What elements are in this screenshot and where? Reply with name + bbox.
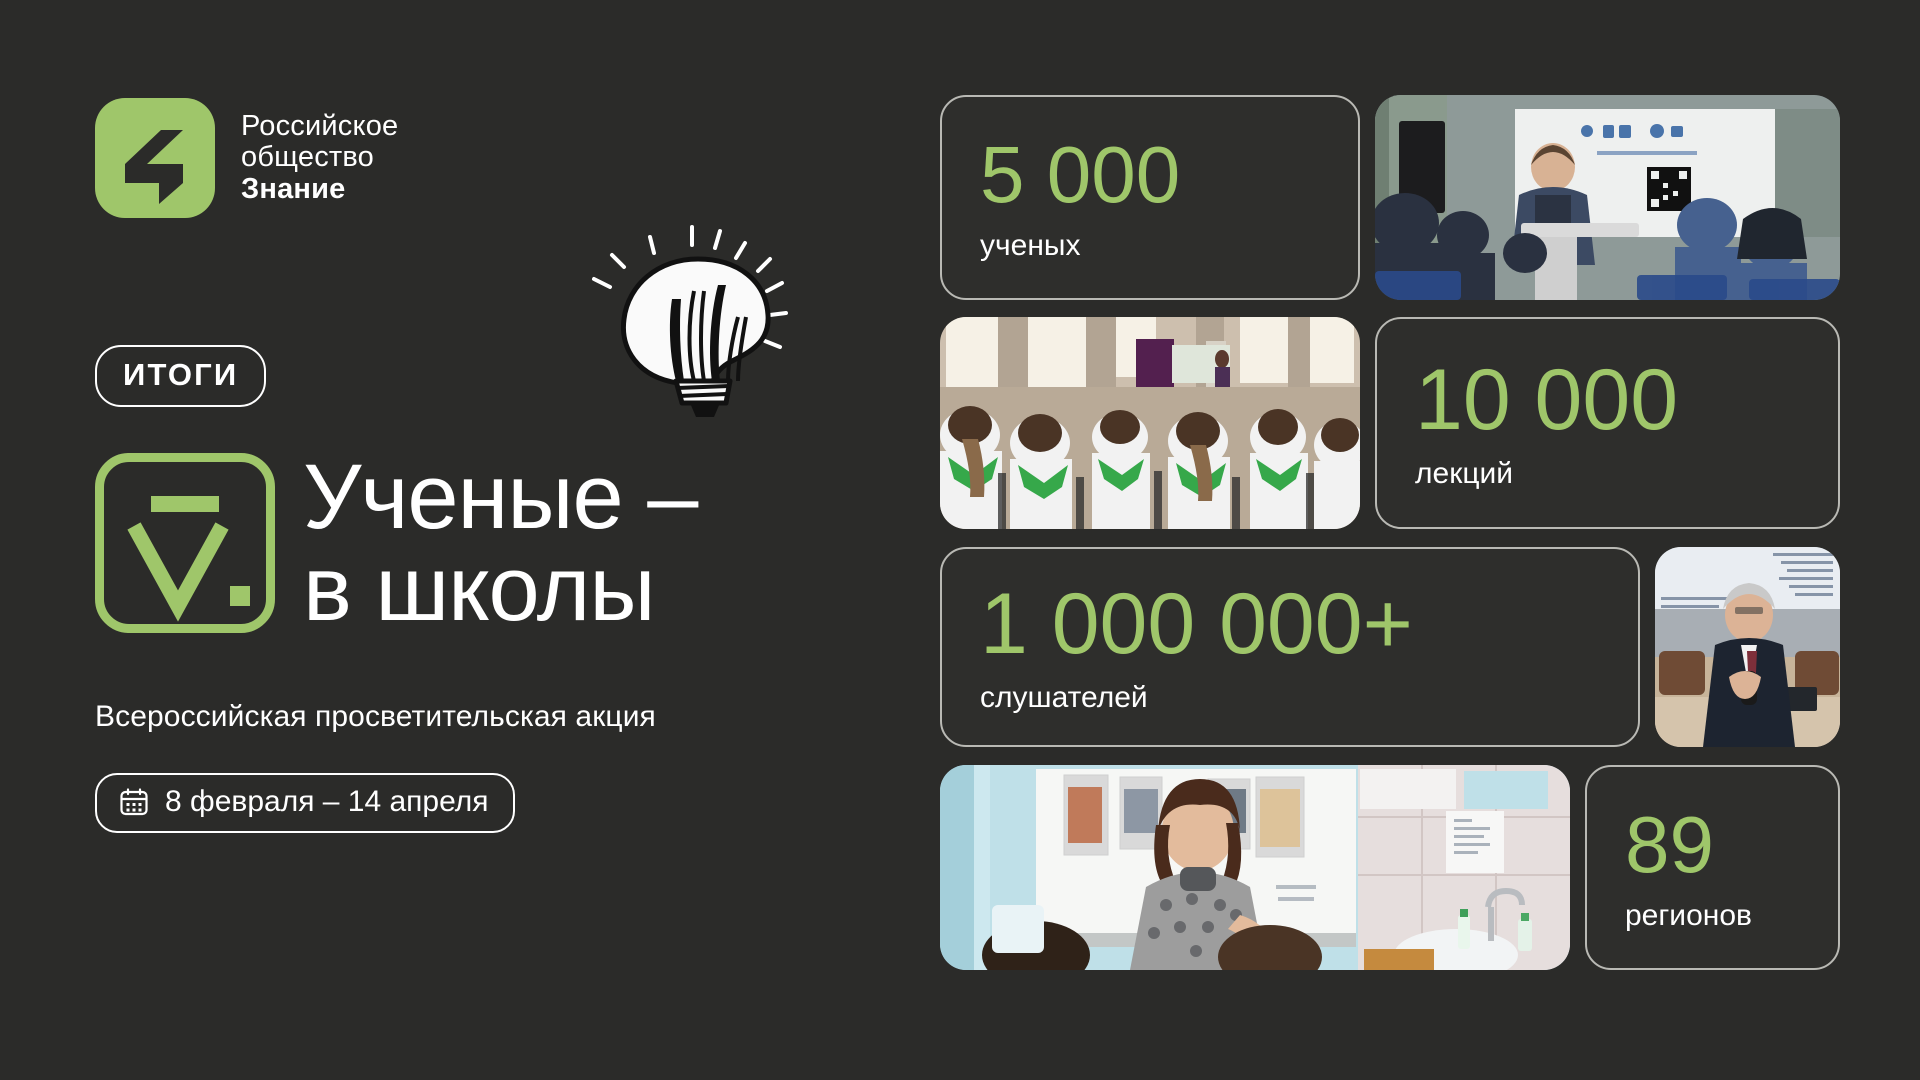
macron-bar [151,496,219,512]
stat-label: регионов [1625,901,1800,931]
calendar-icon [119,787,149,817]
left-panel: Российское общество Знание ИТОГИ Ученые … [0,0,870,1080]
date-range-badge: 8 февраля – 14 апреля [95,773,515,833]
stat-label: слушателей [980,683,1600,713]
stat-card-regions: 89 регионов [1585,765,1840,970]
photo-teacher [940,765,1570,970]
photo-lecture-image [1375,95,1840,300]
lightbulb-doodle-icon [580,215,810,425]
hero-headline-row: Ученые – в школы [95,445,697,635]
brand-wordmark: Российское общество Знание [241,111,398,205]
photo-auditorium-image [940,317,1360,529]
infographic-poster: Российское общество Знание ИТОГИ Ученые … [0,0,1920,1080]
znanie-z-logo-icon [95,98,215,218]
stat-card-scientists: 5 000 ученых [940,95,1360,300]
brand-line-1: Российское [241,111,398,142]
stat-value: 89 [1625,805,1800,885]
photo-auditorium [940,317,1360,529]
photo-teacher-image [940,765,1570,970]
results-badge: ИТОГИ [95,345,266,407]
brand-line-2: общество [241,142,398,173]
stat-value: 5 000 [980,135,1320,215]
photo-speaker [1655,547,1840,747]
page-title: Ученые – в школы [303,445,697,635]
photo-lecture [1375,95,1840,300]
hero-subtitle: Всероссийская просветительская акция [95,700,656,734]
stat-card-listeners: 1 000 000+ слушателей [940,547,1640,747]
stat-value: 10 000 [1415,357,1800,443]
stats-photo-grid: 5 000 ученых [940,95,1840,995]
stat-label: лекций [1415,459,1800,489]
brand-line-3: Знание [241,174,398,205]
stat-card-lectures: 10 000 лекций [1375,317,1840,529]
stat-label: ученых [980,231,1320,261]
date-range-text: 8 февраля – 14 апреля [165,785,489,819]
photo-speaker-image [1655,547,1840,747]
uchenye-u-icon [95,453,275,633]
brand-logo-lockup: Российское общество Знание [95,98,398,218]
stat-value: 1 000 000+ [980,581,1600,667]
